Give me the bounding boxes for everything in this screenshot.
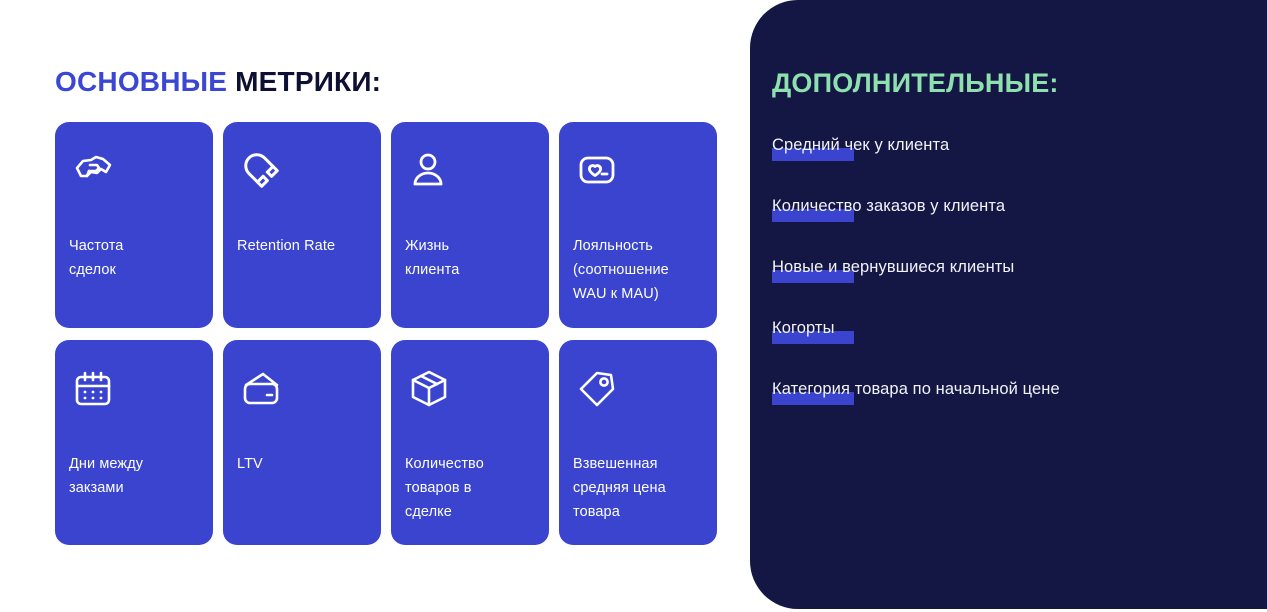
list-item-label: Новые и вернувшиеся клиенты [772, 256, 1247, 278]
list-item[interactable]: Когорты [772, 317, 1247, 378]
person-icon [405, 146, 453, 194]
metric-card-deal-frequency[interactable]: Частота сделок [55, 122, 213, 328]
metric-card-customer-lifetime[interactable]: Жизнь клиента [391, 122, 549, 328]
list-item-label: Количество заказов у клиента [772, 195, 1247, 217]
box-icon [405, 364, 453, 412]
slide-root: ОСНОВНЫЕ МЕТРИКИ: Частота сделок [0, 0, 1267, 612]
main-metrics-heading-rest: МЕТРИКИ: [227, 66, 381, 97]
wallet-icon [237, 364, 285, 412]
metric-card-loyalty[interactable]: Лояльность (соотношение WAU к MAU) [559, 122, 717, 328]
metric-cards-grid: Частота сделок Retention Rate [55, 122, 717, 545]
metric-card-label: Дни между закзами [69, 452, 203, 500]
handshake-icon [69, 146, 117, 194]
list-item[interactable]: Количество заказов у клиента [772, 195, 1247, 256]
metric-card-label: Количество товаров в сделке [405, 452, 539, 524]
main-metrics-heading-accent: ОСНОВНЫЕ [55, 66, 227, 97]
metric-card-weighted-avg-price[interactable]: Взвешенная средняя цена товара [559, 340, 717, 545]
list-item[interactable]: Категория товара по начальной цене [772, 378, 1247, 439]
metric-card-label: Retention Rate [237, 234, 371, 258]
metric-card-label: LTV [237, 452, 371, 476]
additional-metrics-list: Средний чек у клиента Количество заказов… [772, 134, 1247, 439]
additional-metrics-heading: ДОПОЛНИТЕЛЬНЫЕ: [772, 68, 1059, 99]
loyalty-heart-icon [573, 146, 621, 194]
list-item[interactable]: Новые и вернувшиеся клиенты [772, 256, 1247, 317]
additional-metrics-panel: ДОПОЛНИТЕЛЬНЫЕ: Средний чек у клиента Ко… [750, 0, 1267, 609]
metric-card-label: Жизнь клиента [405, 234, 539, 282]
price-tag-icon [573, 364, 621, 412]
list-item-label: Категория товара по начальной цене [772, 378, 1247, 400]
metric-card-days-between-orders[interactable]: Дни между закзами [55, 340, 213, 545]
main-metrics-heading: ОСНОВНЫЕ МЕТРИКИ: [55, 66, 381, 98]
calendar-icon [69, 364, 117, 412]
magnet-icon [237, 146, 285, 194]
list-item-label: Средний чек у клиента [772, 134, 1247, 156]
list-item-label: Когорты [772, 317, 1247, 339]
metric-card-ltv[interactable]: LTV [223, 340, 381, 545]
metric-card-items-per-deal[interactable]: Количество товаров в сделке [391, 340, 549, 545]
metric-card-label: Частота сделок [69, 234, 203, 282]
metric-card-label: Взвешенная средняя цена товара [573, 452, 707, 524]
metric-card-label: Лояльность (соотношение WAU к MAU) [573, 234, 707, 306]
list-item[interactable]: Средний чек у клиента [772, 134, 1247, 195]
main-metrics-section: ОСНОВНЫЕ МЕТРИКИ: Частота сделок [0, 0, 750, 612]
metric-card-retention-rate[interactable]: Retention Rate [223, 122, 381, 328]
